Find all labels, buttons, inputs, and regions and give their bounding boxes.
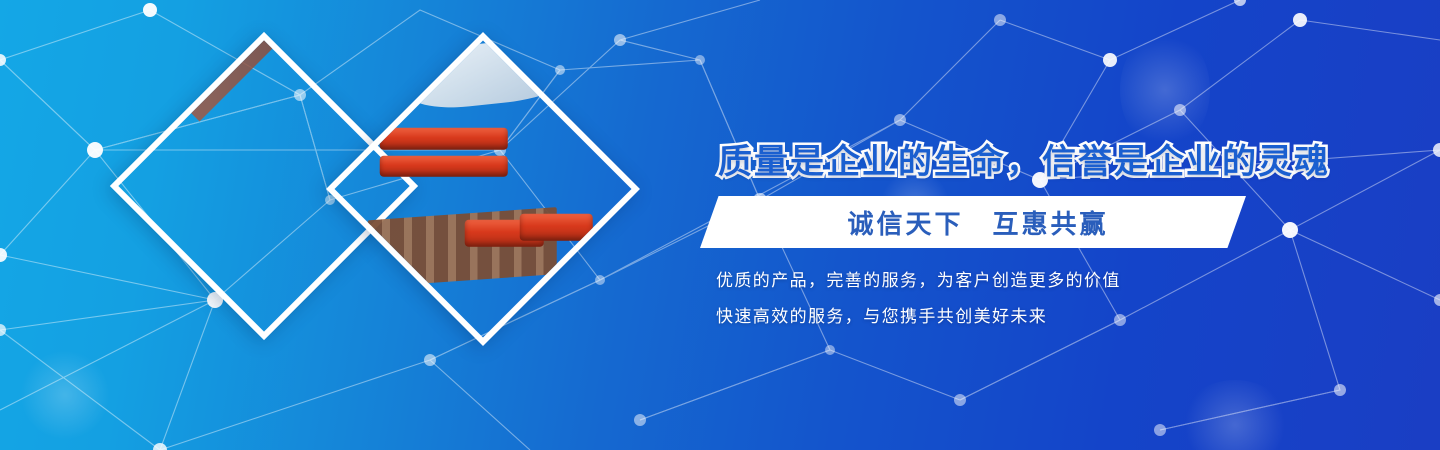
headline: 质量是企业的生命，信誉是企业的灵魂 xyxy=(718,134,1330,183)
shaft-tube xyxy=(520,213,593,240)
shaft-tube xyxy=(379,128,507,149)
slogan-bar: 诚信天下 互惠共赢 xyxy=(700,196,1246,248)
shaft-tube xyxy=(379,156,507,177)
subline-primary: 优质的产品，完善的服务，为客户创造更多的价值 xyxy=(716,266,1121,291)
promo-banner: 质量是企业的生命，信誉是企业的灵魂 诚信天下 互惠共赢 优质的产品，完善的服务，… xyxy=(0,0,1440,450)
slogan-text: 诚信天下 互惠共赢 xyxy=(700,196,1246,248)
subline-secondary: 快速高效的服务，与您携手共创美好未来 xyxy=(716,302,1047,327)
